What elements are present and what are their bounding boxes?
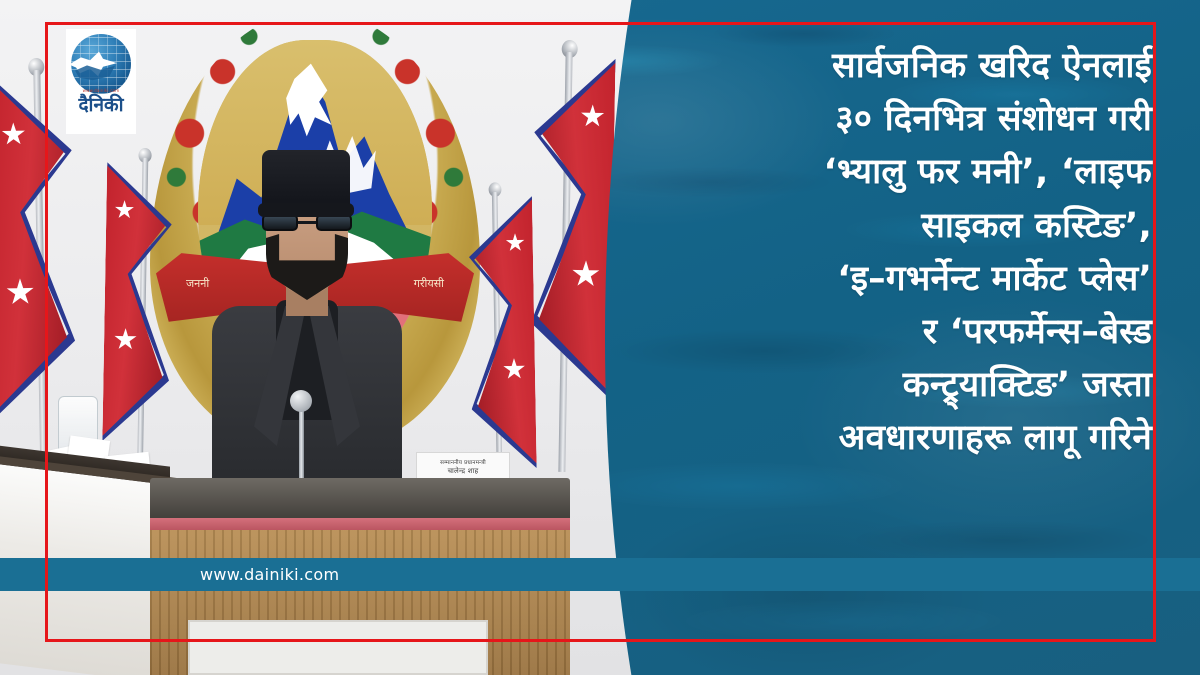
headline-line: र ‘परफर्मेन्स–बेस्ड [660, 306, 1152, 359]
logo-micro-url: www.dainiki.com [83, 88, 120, 93]
globe-dove-icon [71, 34, 131, 94]
emblem-ribbon-right-text: गरीयसी [414, 276, 444, 291]
nameplate-name: चालेन्द्र शाह [448, 467, 479, 476]
website-url-text: www.dainiki.com [200, 565, 339, 584]
headline-line: ‘इ–गभर्नेन्ट मार्केट प्लेस’ [660, 253, 1152, 306]
dhaka-topi-cap [262, 150, 350, 212]
flag-cloth [538, 62, 616, 393]
headline-line: साइकल कस्टिङ’, [660, 200, 1152, 253]
website-url-banner: www.dainiki.com [0, 558, 1200, 591]
podium-top [150, 478, 570, 522]
headline-line: ३० दिनभित्र संशोधन गरी [660, 93, 1152, 146]
headline-line: सार्वजनिक खरिद ऐनलाई [660, 40, 1152, 93]
dainiki-logo[interactable]: www.dainiki.com दैनिकी [66, 29, 136, 134]
logo-wordmark: दैनिकी [78, 96, 123, 115]
headline-line: कन्ट्र्याक्टिङ’ जस्ता [660, 359, 1152, 412]
headline-text: सार्वजनिक खरिद ऐनलाई ३० दिनभित्र संशोधन … [660, 40, 1152, 466]
microphone-head [290, 390, 312, 412]
flag-cloth [102, 165, 166, 437]
news-graphic: जननी गरीयसी [0, 0, 1200, 675]
podium-front-panel [188, 620, 488, 675]
headline-line: अवधारणाहरू लागू गरिने [660, 412, 1152, 465]
headline-line: ‘भ्यालु फर मनी’, ‘लाइफ [660, 146, 1152, 199]
flag-cloth [474, 199, 536, 464]
